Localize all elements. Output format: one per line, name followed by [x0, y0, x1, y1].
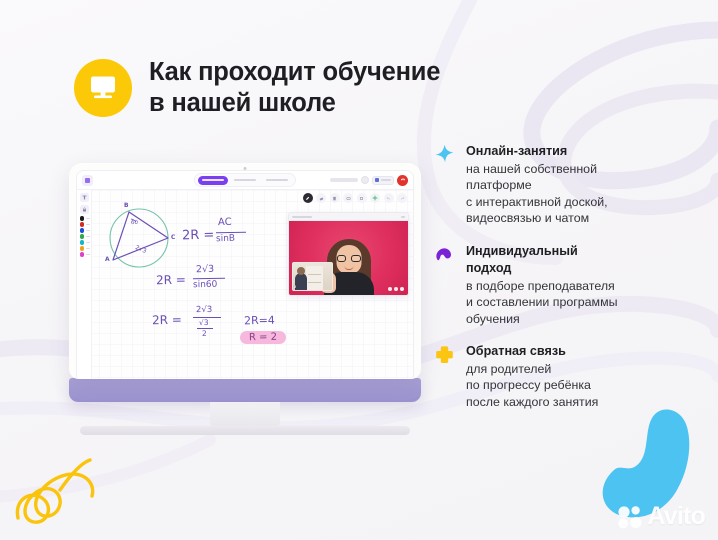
monitor-body: B A C 60 2√3 2R = AC sinB 2R = 2√3 [69, 163, 421, 379]
settings-icon[interactable] [361, 176, 369, 184]
feature-desc-line: после каждого занятия [466, 394, 694, 411]
pip-shelf [306, 266, 323, 290]
feature-desc-line: платформе [466, 177, 694, 194]
lock-tool-icon[interactable] [80, 205, 89, 214]
feature-title: Обратная связь [466, 343, 694, 360]
feature-text: Индивидуальный подход в подборе преподав… [466, 243, 694, 328]
color-row[interactable] [77, 240, 91, 245]
app-tabs[interactable] [194, 173, 296, 187]
avito-wordmark: Avito [647, 502, 705, 531]
formula-1-numerator: AC [218, 217, 232, 228]
pen-icon[interactable] [303, 193, 313, 203]
feature-online-lessons: Онлайн-занятия на нашей собственной плат… [432, 143, 694, 227]
color-row[interactable] [77, 234, 91, 239]
shapes-icon[interactable] [343, 193, 353, 203]
tab-third[interactable] [262, 176, 292, 185]
video-panel-header [289, 213, 408, 221]
feature-desc-line: обучения [466, 311, 694, 328]
app-logo-icon [82, 175, 93, 186]
swoosh-bottom-left [0, 440, 210, 498]
highlight-result-text: R = 2 [249, 332, 277, 344]
feature-desc-line: на нашей собственной [466, 161, 694, 178]
feature-list: Онлайн-занятия на нашей собственной плат… [432, 143, 694, 426]
pip-label: 2 [294, 284, 296, 289]
redo-icon[interactable] [397, 193, 407, 203]
formula-2-denominator: sin60 [193, 280, 218, 291]
avito-watermark: Avito [616, 502, 705, 531]
pip-student [295, 273, 307, 290]
tab-active[interactable] [198, 176, 228, 185]
formula-1-lhs: 2R = [182, 228, 215, 244]
page-title: Как проходит обучение в нашей школе [149, 56, 440, 120]
formula-2-numerator: 2√3 [196, 264, 214, 275]
video-feed[interactable]: 2 [289, 221, 408, 295]
color-row[interactable] [77, 228, 91, 233]
tab-second[interactable] [230, 176, 260, 185]
participants-icon[interactable] [372, 176, 394, 185]
formula-1-denominator: sinB [216, 234, 235, 244]
feature-desc-line: видеосвязью и чатом [466, 210, 694, 227]
pip-thumbnail[interactable]: 2 [292, 262, 333, 291]
feature-title: Индивидуальный [466, 243, 694, 260]
monitor-icon [74, 59, 132, 117]
feature-desc-line: и составлении программы [466, 294, 694, 311]
vertex-label-a: A [105, 256, 110, 263]
text-tool-icon[interactable] [80, 193, 89, 202]
color-row[interactable] [77, 222, 91, 227]
add-icon[interactable] [370, 193, 380, 203]
avito-logo-icon [616, 503, 643, 530]
formula-3-den-bot: 2 [202, 329, 207, 338]
star-icon [432, 143, 456, 227]
header: Как проходит обучение в нашей школе [74, 56, 440, 120]
vertex-label-b: B [124, 202, 129, 209]
monitor-chin [69, 378, 421, 402]
color-row[interactable] [77, 252, 91, 257]
feature-text: Обратная связь для родителей по прогресс… [466, 343, 694, 410]
video-call-panel[interactable]: 2 [288, 212, 409, 296]
feature-desc-line: по прогрессу ребёнка [466, 377, 694, 394]
yellow-squiggle [17, 460, 92, 522]
board-toolbar[interactable] [303, 193, 408, 203]
title-line-1: Как проходит обучение [149, 57, 440, 88]
formula-2-lhs: 2R = [156, 273, 186, 288]
whiteboard-area[interactable]: B A C 60 2√3 2R = AC sinB 2R = 2√3 [77, 190, 413, 379]
crescent-icon [432, 243, 456, 328]
formula-3-lhs: 2R = [152, 313, 182, 328]
feature-title-cont: подход [466, 260, 694, 277]
vertex-label-c: C [171, 234, 176, 241]
angle-label: 60 [131, 220, 138, 226]
monitor-screen: B A C 60 2√3 2R = AC sinB 2R = 2√3 [76, 170, 414, 379]
trash-icon[interactable] [330, 193, 340, 203]
feature-desc-line: с интерактивной доской, [466, 194, 694, 211]
formula-3-den-top: √3 [199, 318, 209, 327]
title-line-2: в нашей школе [149, 88, 440, 119]
feature-individual-approach: Индивидуальный подход в подборе преподав… [432, 243, 694, 328]
undo-icon[interactable] [384, 193, 394, 203]
feature-desc-line: в подборе преподавателя [466, 278, 694, 295]
plus-icon [432, 343, 456, 410]
promo-card: Как проходит обучение в нашей школе [0, 0, 718, 540]
feature-feedback: Обратная связь для родителей по прогресс… [432, 343, 694, 410]
formula-3-numerator: 2√3 [196, 305, 212, 315]
end-call-icon[interactable] [397, 175, 408, 186]
lesson-title-placeholder [330, 178, 358, 182]
monitor-mockup: B A C 60 2√3 2R = AC sinB 2R = 2√3 [69, 163, 421, 435]
color-row[interactable] [77, 216, 91, 221]
feature-title: Онлайн-занятия [466, 143, 694, 160]
monitor-stand-base [80, 426, 410, 435]
app-bar-actions [330, 175, 408, 186]
more-options-icon[interactable] [388, 287, 404, 291]
glasses-icon [337, 255, 361, 262]
result-2r: 2R=4 [244, 314, 275, 328]
monitor-stand-neck [210, 402, 280, 426]
eraser-icon[interactable] [316, 193, 326, 203]
sticker-icon[interactable] [357, 193, 367, 203]
feature-text: Онлайн-занятия на нашей собственной плат… [466, 143, 694, 227]
app-top-bar [77, 171, 413, 190]
feature-desc-line: для родителей [466, 361, 694, 378]
tool-rail[interactable] [77, 190, 92, 379]
color-row[interactable] [77, 246, 91, 251]
highlight-result: R = 2 [240, 331, 286, 344]
